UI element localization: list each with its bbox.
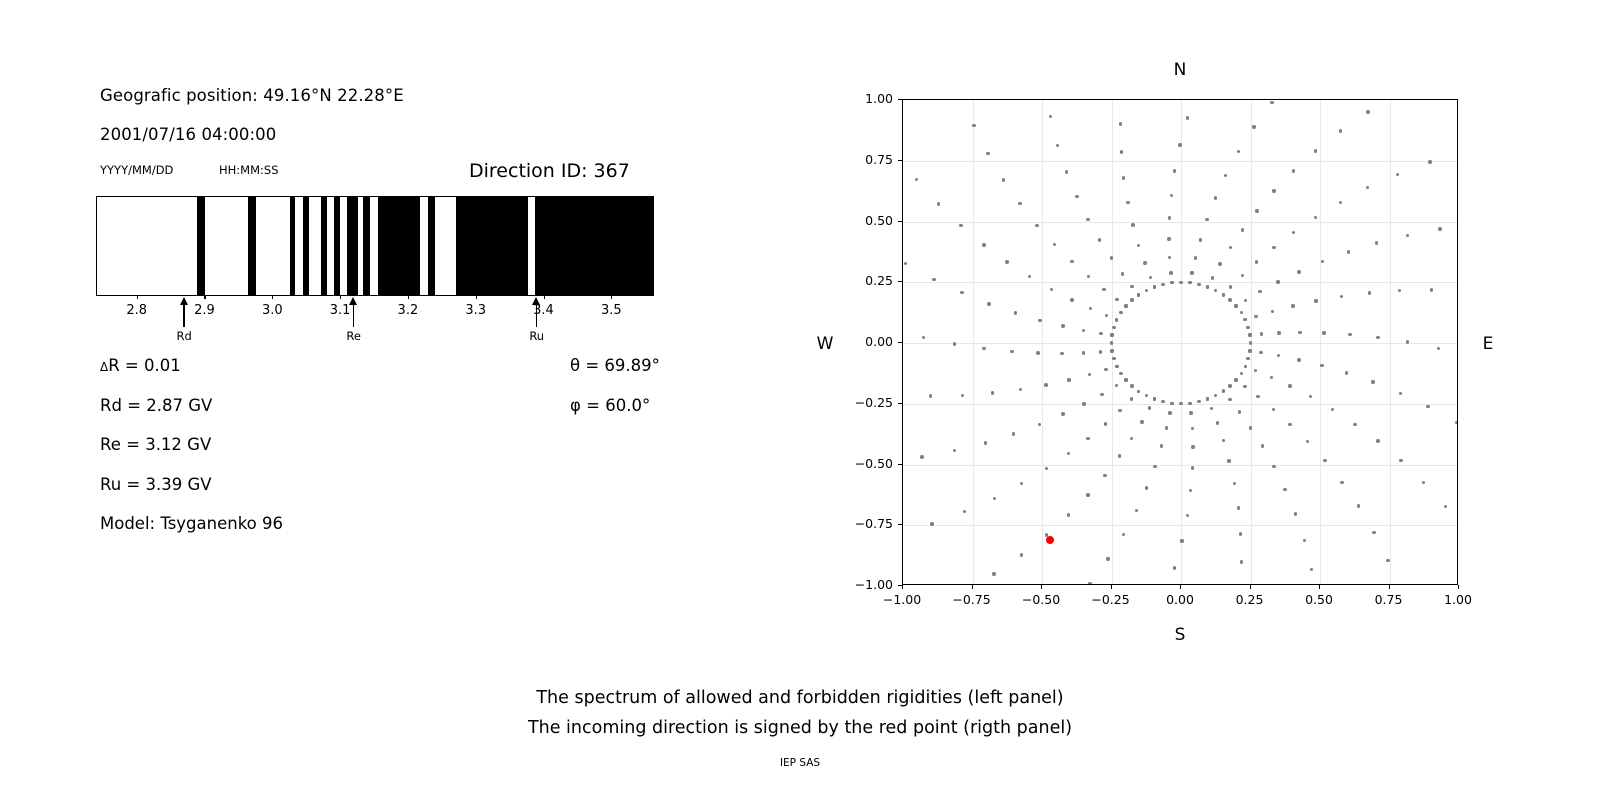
direction-dot [961,394,964,397]
direction-dot [1294,512,1297,515]
direction-dot [1173,169,1176,172]
direction-dot [929,394,932,397]
direction-dot [986,152,989,155]
delta-symbol: Δ [100,360,108,374]
direction-dot [1256,395,1259,398]
direction-dot [1165,426,1168,429]
gridline-vertical [1042,100,1043,584]
direction-dot [1145,394,1148,397]
time-format-hint: HH:MM:SS [219,163,279,177]
direction-dot [1288,384,1291,387]
rigidity-spectrum-bar [96,196,654,296]
direction-dot [1060,352,1063,355]
scatter-y-axis: −1.00−0.75−0.50−0.250.000.250.500.751.00 [845,99,907,585]
direction-dot [1366,110,1369,113]
direction-dot [1259,351,1262,354]
direction-dot [982,243,985,246]
scatter-y-tick-label: 0.50 [845,213,893,228]
direction-dot [1372,531,1375,534]
direction-dot [1258,290,1261,293]
scatter-x-tick [1250,585,1251,589]
scatter-x-tick-label: 0.00 [1150,592,1210,607]
direction-dot [1376,439,1379,442]
compass-west: W [805,334,845,354]
direction-dot [1216,421,1219,424]
direction-dot [1314,216,1317,219]
direction-dot [1173,566,1176,569]
direction-dot [1428,160,1431,163]
scatter-x-tick [902,585,903,589]
direction-dot [1244,365,1247,368]
direction-dot [1291,304,1294,307]
direction-dot [1375,241,1378,244]
direction-dot [1277,331,1280,334]
direction-dot [1050,288,1053,291]
direction-dot [1214,196,1217,199]
direction-dot [1246,326,1249,329]
direction-dot [1298,331,1301,334]
marker-label-rd: Rd [159,329,209,343]
direction-dot [1292,231,1295,234]
direction-dot [1149,276,1152,279]
direction-dot [1272,408,1275,411]
direction-dot [1297,358,1300,361]
direction-dot [1323,459,1326,462]
direction-dot [1140,420,1143,423]
direction-dot [1168,256,1171,259]
model-param: Model: Tsyganenko 96 [100,514,283,533]
direction-dot [1199,238,1202,241]
direction-dot [1106,557,1109,560]
direction-dot [1038,319,1041,322]
scatter-x-tick-label: 0.50 [1289,592,1349,607]
direction-dot [1045,467,1048,470]
direction-dot [1254,369,1257,372]
direction-dot [1075,195,1078,198]
direction-dot [1153,397,1156,400]
delta-r-value: R = 0.01 [108,356,181,375]
direction-dot [1153,465,1156,468]
direction-dot [937,202,940,205]
scatter-x-tick-label: −1.00 [872,592,932,607]
direction-dot [1137,293,1140,296]
direction-dot [1130,437,1133,440]
direction-dot [1210,407,1213,410]
direction-dot [1115,318,1118,321]
direction-dot [915,178,918,181]
footer-credit: IEP SAS [0,757,1600,769]
direction-dot [1229,285,1232,288]
direction-scatter-plot [902,99,1458,585]
direction-dot [1065,170,1068,173]
direction-dot [1237,506,1240,509]
direction-dot [1086,218,1089,221]
direction-dot [1118,409,1121,412]
direction-dot [1188,402,1191,405]
marker-arrow-shaft [183,304,184,327]
forbidden-band [321,197,327,295]
forbidden-band [428,197,435,295]
direction-dot [1119,372,1122,375]
direction-dot [1214,289,1217,292]
direction-dot [1339,129,1342,132]
direction-dot [1143,261,1146,264]
scatter-y-tick [898,221,902,222]
gridline-horizontal [903,465,1457,466]
scatter-y-tick [898,99,902,100]
direction-dot [1376,336,1379,339]
direction-dot [1430,288,1433,291]
direction-dot [1314,149,1317,152]
forbidden-band [248,197,256,295]
direction-dot [1099,350,1102,353]
scatter-x-tick [1389,585,1390,589]
direction-dot [1194,256,1197,259]
gridline-horizontal [903,161,1457,162]
direction-dot [1082,329,1085,332]
direction-dot [1438,227,1441,230]
direction-dot [1170,194,1173,197]
direction-dot [1188,281,1191,284]
scatter-y-tick-label: −0.25 [845,395,893,410]
direction-dot [1396,173,1399,176]
compass-north: N [1130,60,1230,80]
direction-dot [1240,560,1243,563]
theta-param: θ = 69.89° [570,356,660,375]
direction-dot [1002,178,1005,181]
direction-dot [1224,174,1227,177]
direction-dot [1437,347,1440,350]
scatter-y-tick [898,524,902,525]
direction-dot [1244,299,1247,302]
direction-dot [1277,354,1280,357]
direction-dot [1292,169,1295,172]
direction-dot [1130,397,1133,400]
direction-dot [1357,504,1360,507]
direction-dot [1082,402,1085,405]
direction-dot [1320,364,1323,367]
direction-dot [1120,150,1123,153]
incoming-direction-point [1046,536,1054,544]
direction-dot [1345,371,1348,374]
direction-dot [1191,466,1194,469]
direction-dot [1110,349,1113,352]
direction-dot [963,510,966,513]
direction-dot [1303,539,1306,542]
direction-dot [1169,271,1172,274]
scatter-y-tick [898,464,902,465]
datetime-text: 2001/07/16 04:00:00 [100,125,276,144]
direction-dot [1211,276,1214,279]
scatter-y-tick [898,403,902,404]
direction-dot [1297,270,1300,273]
direction-dot [1222,439,1225,442]
direction-dot [1170,402,1173,405]
direction-dot [1105,314,1108,317]
scatter-x-tick [1180,585,1181,589]
direction-dot [1168,216,1171,219]
direction-dot [1179,402,1182,405]
direction-dot [1243,385,1246,388]
direction-dot [1179,281,1182,284]
direction-dot [1038,423,1041,426]
direction-dot [1104,368,1107,371]
direction-dot [1260,332,1263,335]
direction-dot [1406,340,1409,343]
direction-dot [1426,405,1429,408]
direction-dot [1206,285,1209,288]
direction-dot [1130,298,1133,301]
direction-dot [1240,372,1243,375]
direction-dot [1214,394,1217,397]
direction-dot [1366,186,1369,189]
compass-east: E [1468,334,1508,354]
direction-dot [1148,406,1151,409]
direction-dot [1238,410,1241,413]
direction-dot [1153,285,1156,288]
direction-dot [1104,422,1107,425]
direction-dot [1248,349,1251,352]
direction-dot [1178,143,1181,146]
direction-dot [1005,260,1008,263]
marker-label-re: Re [329,329,379,343]
delta-r-param: ΔR = 0.01 [100,356,181,375]
direction-dot [1044,383,1047,386]
direction-dot [1019,388,1022,391]
direction-dot [1261,444,1264,447]
direction-dot [1170,281,1173,284]
direction-dot [1089,307,1092,310]
date-format-hint: YYYY/MM/DD [100,163,173,177]
direction-dot [953,342,956,345]
gridline-vertical [1390,100,1391,584]
direction-dot [1272,246,1275,249]
direction-dot [1010,350,1013,353]
direction-dot [1340,295,1343,298]
direction-dot [1309,395,1312,398]
gridline-horizontal [903,525,1457,526]
direction-id-label: Direction ID: 367 [469,160,630,182]
direction-dot [1167,237,1170,240]
scatter-x-tick-label: 0.25 [1220,592,1280,607]
scatter-x-tick [1041,585,1042,589]
direction-dot [1112,326,1115,329]
forbidden-band [378,197,420,295]
direction-dot [1110,341,1113,344]
forbidden-band [535,197,653,295]
direction-dot [1398,289,1401,292]
direction-dot [1222,390,1225,393]
forbidden-band [456,197,529,295]
direction-dot [1020,482,1023,485]
direction-dot [1237,150,1240,153]
direction-dot [1110,333,1113,336]
direction-dot [1241,228,1244,231]
scatter-y-tick-label: −1.00 [845,577,893,592]
direction-dot [1191,427,1194,430]
scatter-y-tick-label: 0.75 [845,152,893,167]
direction-dot [1189,411,1192,414]
direction-dot [1102,288,1105,291]
direction-dot [1248,333,1251,336]
direction-dot [1036,351,1039,354]
gridline-vertical [1181,100,1182,584]
direction-dot [1246,357,1249,360]
forbidden-band [197,197,205,295]
gridline-horizontal [903,222,1457,223]
direction-dot [1422,481,1425,484]
direction-dot [972,124,975,127]
forbidden-band [363,197,370,295]
scatter-x-tick-label: −0.75 [942,592,1002,607]
direction-dot [1168,411,1171,414]
direction-dot [1098,238,1101,241]
direction-dot [987,302,990,305]
direction-dot [984,441,987,444]
direction-dot [1254,315,1257,318]
scatter-y-tick-label: 0.25 [845,273,893,288]
direction-dot [1145,289,1148,292]
direction-dot [1252,125,1255,128]
direction-dot [922,336,925,339]
direction-dot [1228,298,1231,301]
direction-dot [1012,432,1015,435]
direction-dot [1087,275,1090,278]
direction-dot [1272,189,1275,192]
direction-dot [1227,459,1230,462]
phi-param: φ = 60.0° [570,396,650,415]
direction-dot [1234,304,1237,307]
direction-dot [1255,260,1258,263]
scatter-y-tick [898,281,902,282]
scatter-x-tick [1111,585,1112,589]
direction-dot [992,572,995,575]
figure-canvas: Geografic position: 49.16°N 22.28°E 2001… [0,0,1600,800]
direction-dot [1233,482,1236,485]
direction-dot [1455,421,1458,424]
re-param: Re = 3.12 GV [100,435,211,454]
direction-dot [1056,144,1059,147]
direction-dot [1218,262,1221,265]
forbidden-band [290,197,295,295]
direction-dot [1371,380,1374,383]
direction-dot [1348,333,1351,336]
scatter-x-tick [972,585,973,589]
direction-dot [1353,423,1356,426]
direction-dot [920,455,923,458]
direction-dot [1070,260,1073,263]
direction-dot [1020,553,1023,556]
scatter-x-tick-label: −0.50 [1011,592,1071,607]
gridline-horizontal [903,343,1457,344]
scatter-y-tick-label: 1.00 [845,91,893,106]
direction-dot [1340,481,1343,484]
direction-dot [1197,283,1200,286]
direction-dot [1126,201,1129,204]
direction-dot [1067,378,1070,381]
direction-dot [1228,398,1231,401]
direction-dot [1035,224,1038,227]
gridline-vertical [973,100,974,584]
direction-dot [1061,324,1064,327]
direction-dot [1028,275,1031,278]
direction-dot [1130,285,1133,288]
direction-dot [1135,509,1138,512]
direction-dot [1270,101,1273,104]
direction-dot [930,522,933,525]
direction-dot [1331,408,1334,411]
scatter-y-tick [898,160,902,161]
direction-dot [1347,250,1350,253]
direction-dot [1399,459,1402,462]
direction-dot [960,291,963,294]
direction-dot [1240,311,1243,314]
direction-dot [1100,393,1103,396]
direction-dot [1124,304,1127,307]
direction-dot [1228,384,1231,387]
direction-dot [993,497,996,500]
direction-dot [1321,260,1324,263]
direction-dot [1239,532,1242,535]
direction-dot [1053,243,1056,246]
direction-dot [1399,392,1402,395]
caption-line-2: The incoming direction is signed by the … [0,718,1600,738]
direction-dot [1406,234,1409,237]
direction-dot [1137,244,1140,247]
direction-dot [1310,568,1313,571]
direction-dot [1086,437,1089,440]
direction-dot [1234,378,1237,381]
direction-dot [1067,452,1070,455]
compass-south: S [1130,625,1230,645]
scatter-x-tick-label: 1.00 [1428,592,1488,607]
direction-dot [1322,331,1325,334]
direction-dot [1130,384,1133,387]
direction-dot [982,347,985,350]
scatter-x-tick [1458,585,1459,589]
forbidden-band [347,197,358,295]
direction-dot [1018,202,1021,205]
direction-dot [1191,445,1194,448]
direction-dot [1049,115,1052,118]
scatter-x-tick [1319,585,1320,589]
direction-dot [1115,384,1118,387]
direction-dot [1288,423,1291,426]
rigidity-markers: RdReRu [96,295,654,350]
direction-dot [1255,209,1258,212]
direction-dot [1119,122,1122,125]
scatter-x-tick-label: −0.25 [1081,592,1141,607]
direction-dot [1186,514,1189,517]
direction-dot [1088,373,1091,376]
direction-dot [1119,311,1122,314]
direction-dot [1115,298,1118,301]
direction-dot [1190,271,1193,274]
marker-arrow-shaft [536,304,537,327]
direction-dot [1118,454,1121,457]
direction-dot [1121,272,1124,275]
direction-dot [1271,310,1274,313]
direction-dot [1272,465,1275,468]
marker-label-ru: Ru [512,329,562,343]
direction-dot [1014,311,1017,314]
direction-dot [1276,280,1279,283]
direction-dot [1160,444,1163,447]
direction-dot [1061,412,1064,415]
direction-dot [1137,390,1140,393]
direction-dot [1189,489,1192,492]
direction-dot [1180,539,1183,542]
